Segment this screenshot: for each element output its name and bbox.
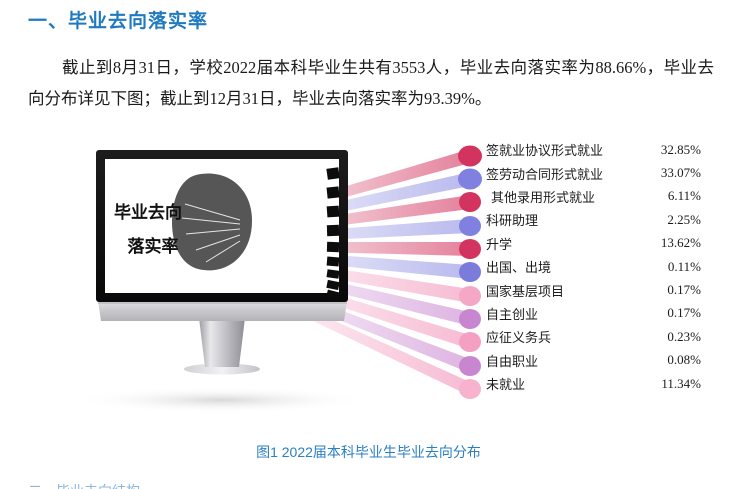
legend-item-label: 未就业 [486,374,525,393]
legend-item: 自由职业 0.08% [486,349,701,372]
legend-item-value: 33.07% [661,165,701,181]
legend-item-label: 签就业协议形式就业 [486,140,603,159]
figure-infographic: 毕业去向 落实率 签就业协议形式就业 32.85% 签劳动合同形式就业 33.0… [0,132,737,432]
legend-item-value: 0.17% [667,282,701,298]
legend-item: 科研助理 2.25% [486,208,701,231]
monitor-neck [199,318,245,367]
legend-item-label: 签劳动合同形式就业 [486,164,603,183]
legend-bullet [458,169,482,190]
legend-bullet [459,239,481,259]
legend-bullet [459,309,481,329]
legend-item-value: 2.25% [667,212,701,228]
legend-bullet [459,332,481,352]
legend-item-label: 其他录用形式就业 [486,187,595,206]
legend-item-value: 11.34% [661,376,701,392]
legend-bullet-group [458,146,482,400]
body-paragraph: 截止到8月31日，学校2022届本科毕业生共有3553人，毕业去向落实率为88.… [28,52,714,114]
legend-bullet [459,379,481,399]
legend-item-label: 应征义务兵 [486,327,551,346]
legend-item-label: 自主创业 [486,304,538,323]
legend-item: 签劳动合同形式就业 33.07% [486,161,701,184]
legend-item-value: 13.62% [661,235,701,251]
pie-blob [172,174,252,271]
legend-item-label: 自由职业 [486,351,538,370]
legend-item: 应征义务兵 0.23% [486,325,701,348]
legend-item: 国家基层项目 0.17% [486,278,701,301]
legend-bullet [459,356,481,376]
legend-bullet [458,146,482,167]
legend-item-value: 6.11% [668,188,701,204]
figure-caption: 图1 2022届本科毕业生毕业去向分布 [0,442,737,462]
legend-item-value: 0.08% [667,352,701,368]
screen-text-line1: 毕业去向 [114,202,182,222]
legend-item-value: 0.11% [668,259,701,275]
section-heading: 一、毕业去向落实率 [28,6,208,33]
legend-item-label: 出国、出境 [486,257,551,276]
legend-bullet [459,286,481,306]
next-section-heading-clipped: 二、毕业去向结构 [28,481,140,489]
legend-list: 签就业协议形式就业 32.85% 签劳动合同形式就业 33.07% 其他录用形式… [486,138,701,395]
legend-bullet [459,192,481,212]
legend-item-value: 32.85% [661,142,701,158]
legend-item: 未就业 11.34% [486,372,701,395]
monitor-shadow [72,387,372,413]
legend-item: 签就业协议形式就业 32.85% [486,138,701,161]
legend-item: 升学 13.62% [486,232,701,255]
legend-item: 其他录用形式就业 6.11% [486,185,701,208]
legend-item: 出国、出境 0.11% [486,255,701,278]
legend-bullet [459,216,481,236]
legend-item: 自主创业 0.17% [486,302,701,325]
legend-item-value: 0.23% [667,329,701,345]
legend-item-label: 升学 [486,234,512,253]
legend-item-label: 国家基层项目 [486,281,564,300]
legend-item-value: 0.17% [667,305,701,321]
legend-item-label: 科研助理 [486,210,538,229]
legend-bullet [459,262,481,282]
screen-text-line2: 落实率 [128,236,179,256]
